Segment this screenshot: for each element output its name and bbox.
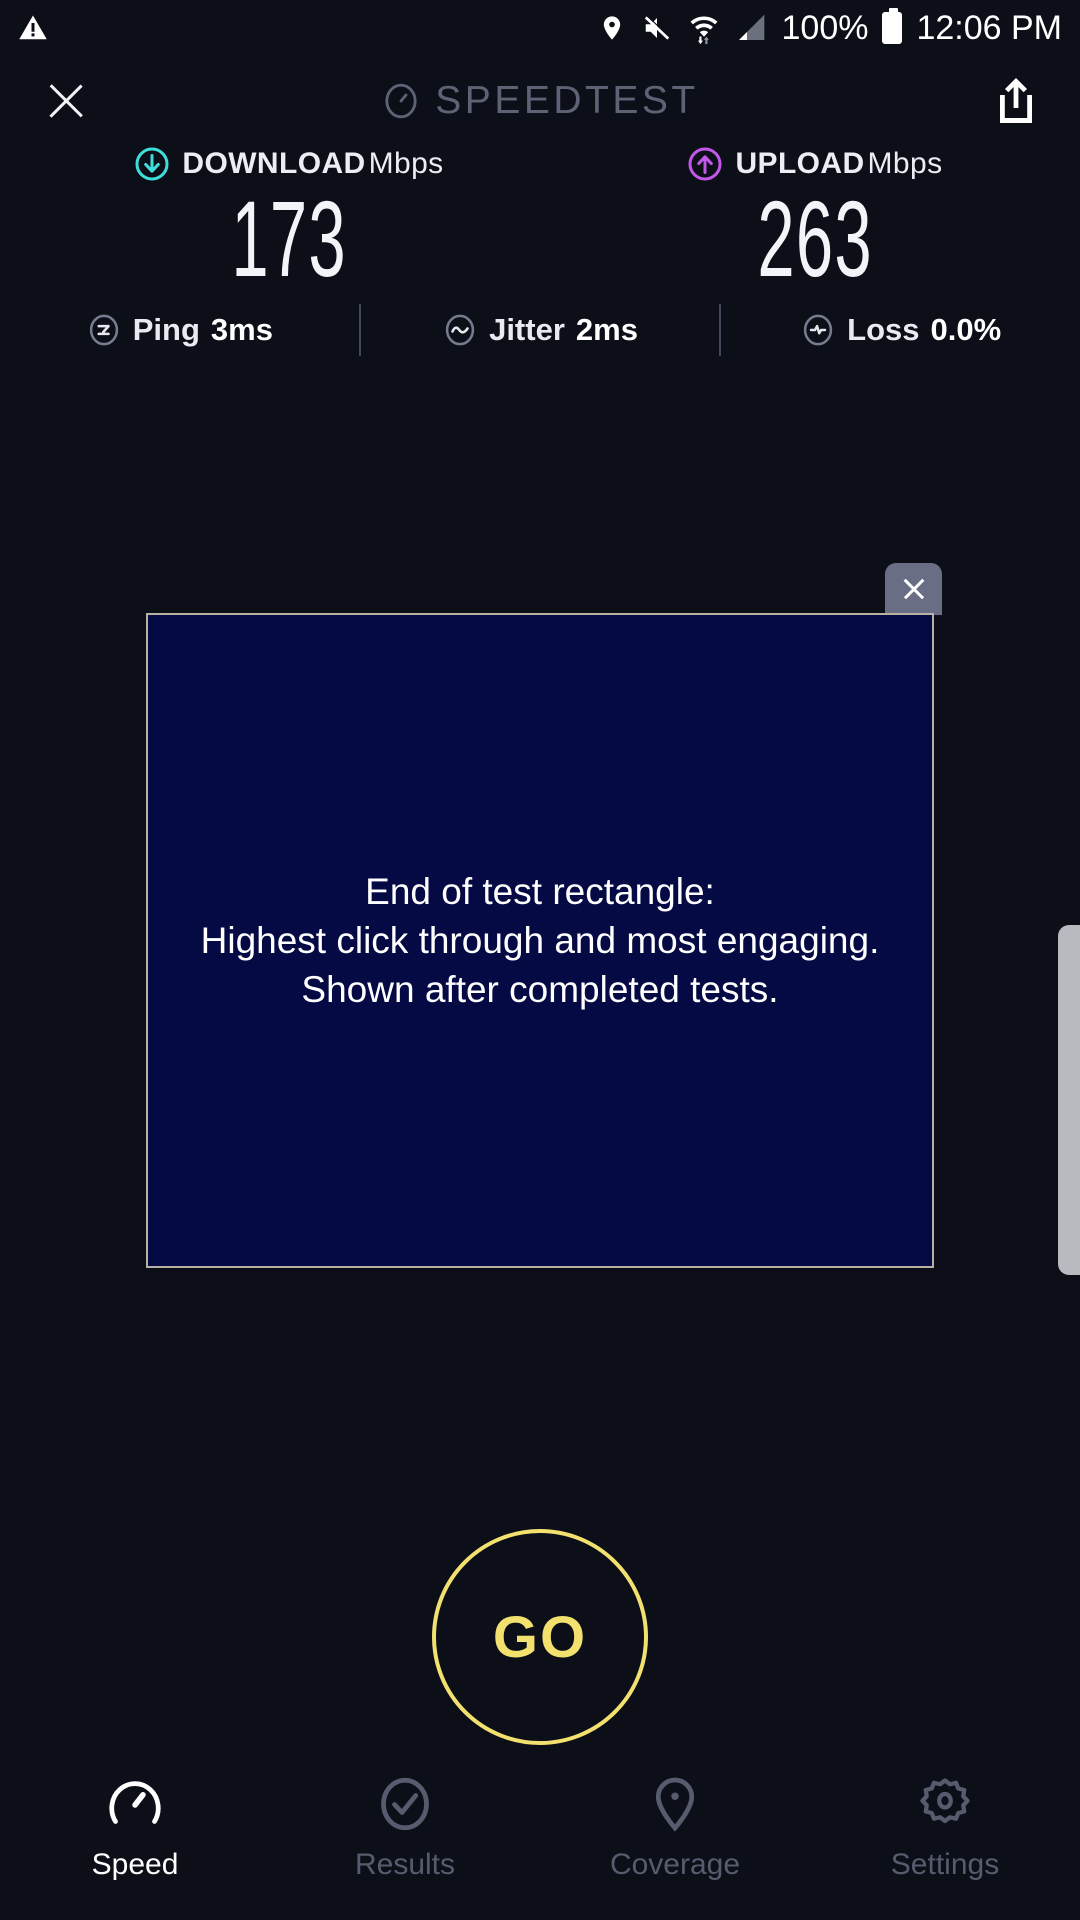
close-icon xyxy=(899,574,929,604)
location-pin-icon xyxy=(645,1774,705,1834)
scrollbar-thumb[interactable] xyxy=(1058,925,1080,1275)
upload-value: 263 xyxy=(757,184,872,294)
nav-item-coverage[interactable]: Coverage xyxy=(540,1774,810,1882)
ping-value: 3ms xyxy=(211,312,273,348)
status-bar-left xyxy=(18,13,48,43)
wifi-icon xyxy=(688,11,720,45)
battery-percent: 100% xyxy=(782,9,869,48)
download-label: DOWNLOADMbps xyxy=(182,147,443,181)
download-result: DOWNLOADMbps 173 xyxy=(0,146,540,294)
nav-label-settings: Settings xyxy=(891,1848,999,1882)
nav-label-speed: Speed xyxy=(92,1848,179,1882)
cell-signal-icon xyxy=(734,12,768,44)
go-button[interactable]: GO xyxy=(432,1529,648,1745)
download-arrow-icon xyxy=(134,146,170,182)
speed-results-row: DOWNLOADMbps 173 UPLOADMbps 263 xyxy=(0,146,1080,294)
jitter-label: Jitter xyxy=(489,312,565,348)
loss-metric: Loss 0.0% xyxy=(721,312,1080,348)
nav-label-coverage: Coverage xyxy=(610,1848,740,1882)
ad-close-button[interactable] xyxy=(885,563,942,615)
page-title: SPEEDTEST xyxy=(435,79,698,123)
ping-label: Ping xyxy=(133,312,200,348)
upload-result: UPLOADMbps 263 xyxy=(540,146,1080,294)
network-metrics-row: Ping 3ms Jitter 2ms Loss 0.0% xyxy=(0,300,1080,360)
loss-icon xyxy=(800,312,836,348)
share-icon xyxy=(992,75,1040,127)
ping-icon xyxy=(86,312,122,348)
bottom-navigation: Speed Results Coverage Settings xyxy=(0,1760,1080,1920)
app-header: SPEEDTEST xyxy=(0,56,1080,146)
share-button[interactable] xyxy=(992,75,1040,127)
jitter-metric: Jitter 2ms xyxy=(361,312,720,348)
gear-icon xyxy=(915,1774,975,1834)
results-panel: DOWNLOADMbps 173 UPLOADMbps 263 xyxy=(0,146,1080,294)
header-title-group: SPEEDTEST xyxy=(0,79,1080,123)
ad-text: End of test rectangle: Highest click thr… xyxy=(201,867,880,1015)
speedometer-icon xyxy=(381,81,421,121)
ping-metric: Ping 3ms xyxy=(0,312,359,348)
upload-label-row: UPLOADMbps xyxy=(687,146,942,182)
upload-label: UPLOADMbps xyxy=(735,147,942,181)
nav-item-settings[interactable]: Settings xyxy=(810,1774,1080,1882)
download-label-row: DOWNLOADMbps xyxy=(134,146,443,182)
status-bar: 100% 12:06 PM xyxy=(0,0,1080,56)
jitter-icon xyxy=(442,312,478,348)
advertisement-banner[interactable]: End of test rectangle: Highest click thr… xyxy=(146,613,934,1268)
loss-value: 0.0% xyxy=(931,312,1002,348)
status-bar-right: 100% 12:06 PM xyxy=(598,9,1063,48)
volume-mute-icon xyxy=(640,13,674,43)
speedtest-app-screen: 100% 12:06 PM SPEEDTEST xyxy=(0,0,1080,1920)
close-button[interactable] xyxy=(40,75,92,127)
warning-triangle-icon xyxy=(18,13,48,43)
location-pin-icon xyxy=(598,11,626,45)
loss-label: Loss xyxy=(847,312,919,348)
clock-time: 12:06 PM xyxy=(916,9,1062,48)
download-value: 173 xyxy=(231,184,346,294)
nav-item-results[interactable]: Results xyxy=(270,1774,540,1882)
nav-label-results: Results xyxy=(355,1848,455,1882)
nav-item-speed[interactable]: Speed xyxy=(0,1774,270,1882)
jitter-value: 2ms xyxy=(576,312,638,348)
speedometer-icon xyxy=(105,1774,165,1834)
go-button-label: GO xyxy=(493,1604,587,1671)
battery-full-icon xyxy=(882,12,902,44)
upload-arrow-icon xyxy=(687,146,723,182)
check-circle-icon xyxy=(375,1774,435,1834)
